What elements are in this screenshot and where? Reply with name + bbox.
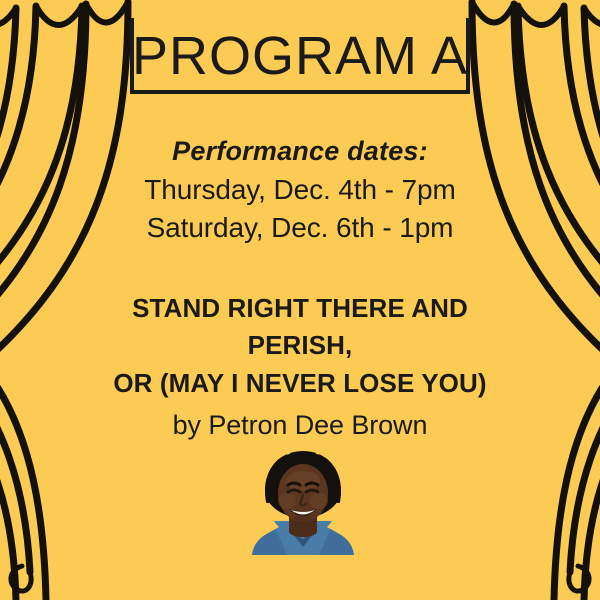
title-frame-border: PROGRAM A (130, 18, 470, 94)
poster-canvas: PROGRAM A Performance dates: Thursday, D… (0, 0, 600, 600)
production-byline: by Petron Dee Brown (0, 408, 600, 443)
program-title-area: PROGRAM A (0, 18, 600, 94)
performance-date-line: Saturday, Dec. 6th - 1pm (0, 209, 600, 247)
page-title: PROGRAM A (132, 29, 468, 83)
performance-date-line: Thursday, Dec. 4th - 7pm (0, 171, 600, 209)
production-title-line: STAND RIGHT THERE AND (0, 290, 600, 327)
production-title-line: OR (MAY I NEVER LOSE YOU) (0, 365, 600, 402)
production-title-line: PERISH, (0, 327, 600, 364)
performance-dates-block: Performance dates: Thursday, Dec. 4th - … (0, 136, 600, 246)
performance-dates-heading: Performance dates: (0, 136, 600, 167)
production-block: STAND RIGHT THERE AND PERISH, OR (MAY I … (0, 290, 600, 443)
playwright-headshot-photo (249, 447, 357, 555)
